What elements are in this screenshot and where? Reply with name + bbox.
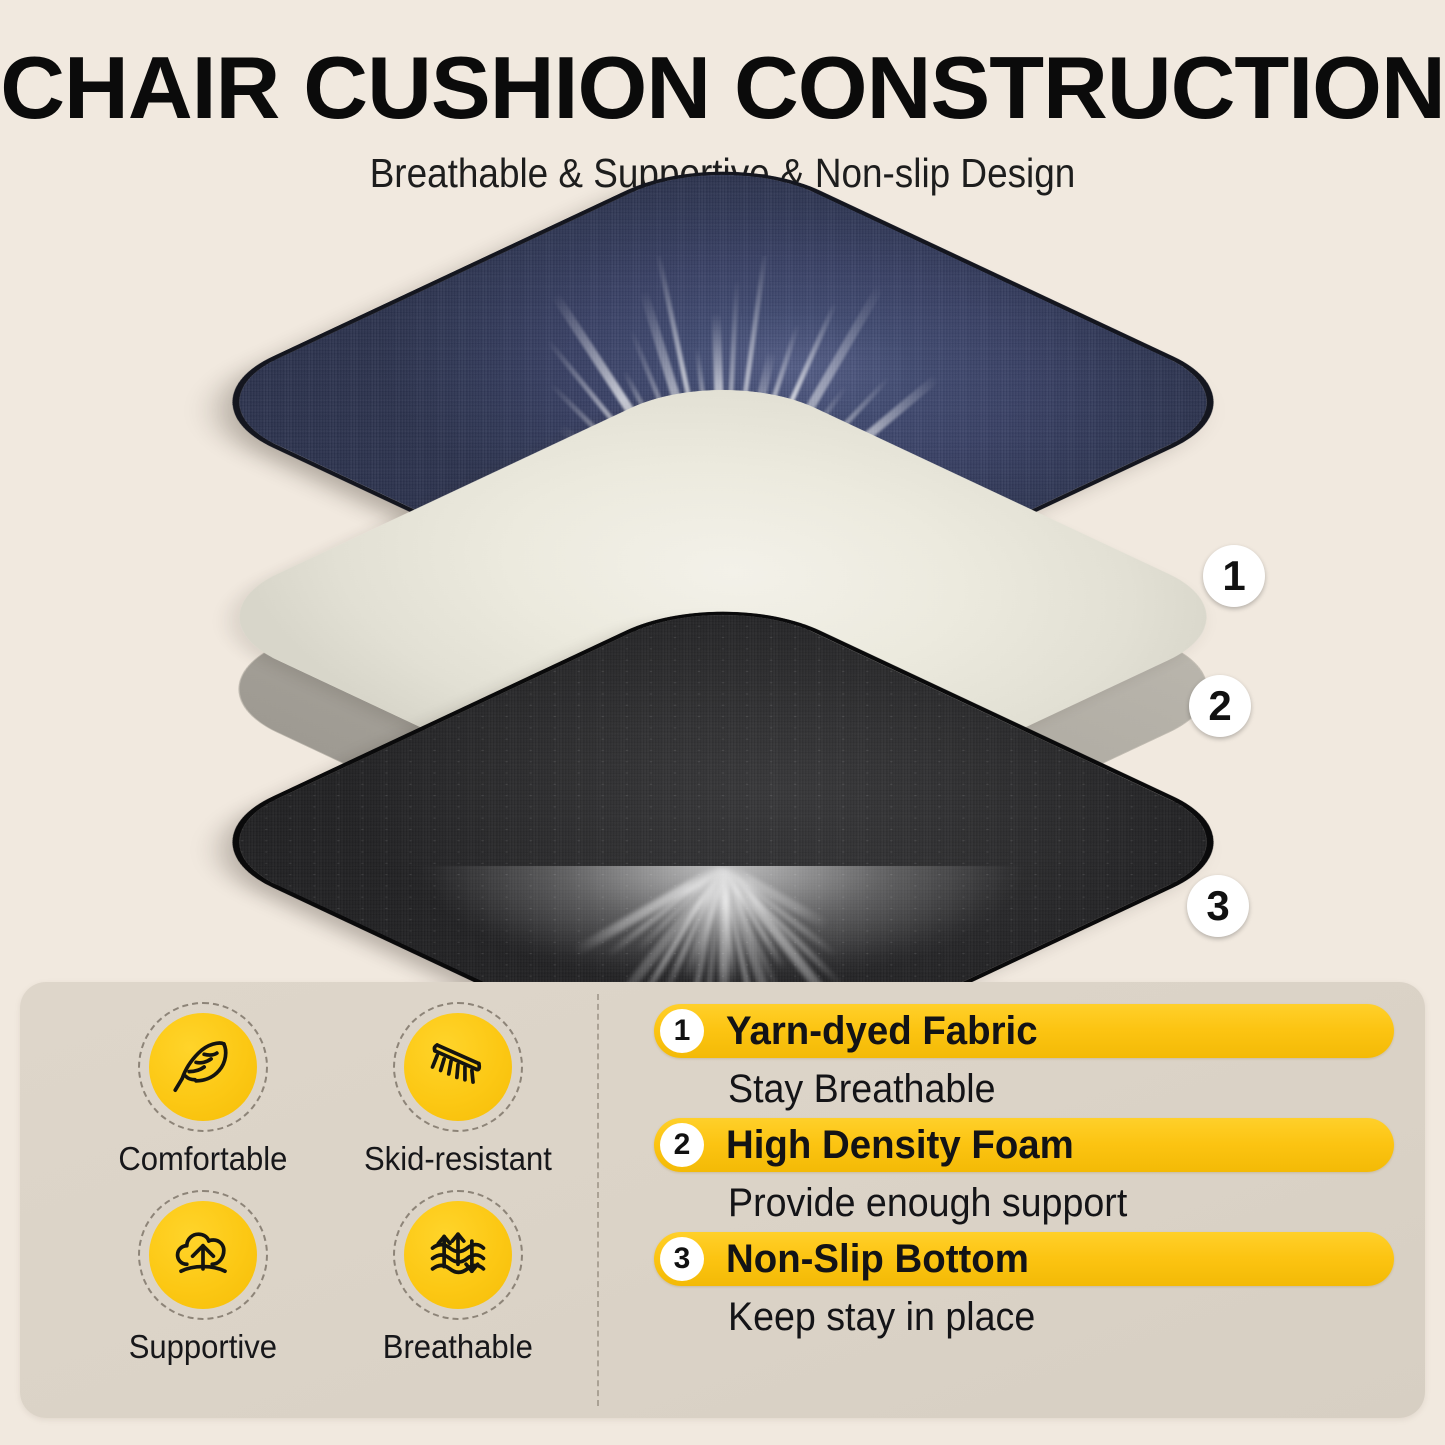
feature-number-badge: 2 <box>660 1123 704 1167</box>
infographic-page: CHAIR CUSHION CONSTRUCTION Breathable & … <box>0 0 1445 1445</box>
callout-badge-2: 2 <box>1189 675 1251 737</box>
benefit-label: Supportive <box>128 1328 276 1366</box>
feature-pill: 1 Yarn-dyed Fabric <box>654 1004 1394 1058</box>
benefit-ring <box>138 1190 268 1320</box>
brush-bristles-icon <box>421 1030 495 1104</box>
page-title: CHAIR CUSHION CONSTRUCTION <box>0 0 1445 132</box>
feather-icon <box>166 1030 240 1104</box>
feature-description: Stay Breathable <box>728 1067 1354 1112</box>
benefit-supportive: Supportive <box>80 1190 325 1366</box>
benefit-skid-resistant: Skid-resistant <box>335 1002 580 1178</box>
panel-divider <box>597 994 599 1406</box>
header: CHAIR CUSHION CONSTRUCTION Breathable & … <box>0 0 1445 197</box>
benefit-label: Breathable <box>382 1328 532 1366</box>
benefit-ring <box>393 1002 523 1132</box>
cloud-up-arrow-icon <box>166 1218 240 1292</box>
feature-title: Non-Slip Bottom <box>726 1237 1029 1282</box>
feature-title: Yarn-dyed Fabric <box>726 1009 1038 1054</box>
callout-badge-3: 3 <box>1187 875 1249 937</box>
airflow-waves-icon <box>421 1218 495 1292</box>
feature-item: 3 Non-Slip Bottom Keep stay in place <box>654 1232 1394 1340</box>
benefit-label: Comfortable <box>118 1140 287 1178</box>
callout-badge-1: 1 <box>1203 545 1265 607</box>
benefit-breathable: Breathable <box>335 1190 580 1366</box>
feature-item: 2 High Density Foam Provide enough suppo… <box>654 1118 1394 1226</box>
feature-pill: 2 High Density Foam <box>654 1118 1394 1172</box>
feature-title: High Density Foam <box>726 1123 1074 1168</box>
benefit-disc <box>404 1201 512 1309</box>
feature-item: 1 Yarn-dyed Fabric Stay Breathable <box>654 1004 1394 1112</box>
feature-number-badge: 1 <box>660 1009 704 1053</box>
benefit-comfortable: Comfortable <box>80 1002 325 1178</box>
benefit-label: Skid-resistant <box>364 1140 552 1178</box>
product-exploded-view: 1 2 3 <box>0 190 1445 980</box>
benefit-disc <box>149 1201 257 1309</box>
feature-pill: 3 Non-Slip Bottom <box>654 1232 1394 1286</box>
benefits-grid: Comfortable <box>80 1002 580 1366</box>
feature-description: Keep stay in place <box>728 1295 1354 1340</box>
benefit-ring <box>138 1002 268 1132</box>
benefit-ring <box>393 1190 523 1320</box>
features-list: 1 Yarn-dyed Fabric Stay Breathable 2 Hig… <box>654 1004 1394 1346</box>
feature-number-badge: 3 <box>660 1237 704 1281</box>
details-panel: Comfortable <box>20 982 1425 1418</box>
benefit-disc <box>149 1013 257 1121</box>
benefit-disc <box>404 1013 512 1121</box>
feature-description: Provide enough support <box>728 1181 1354 1226</box>
